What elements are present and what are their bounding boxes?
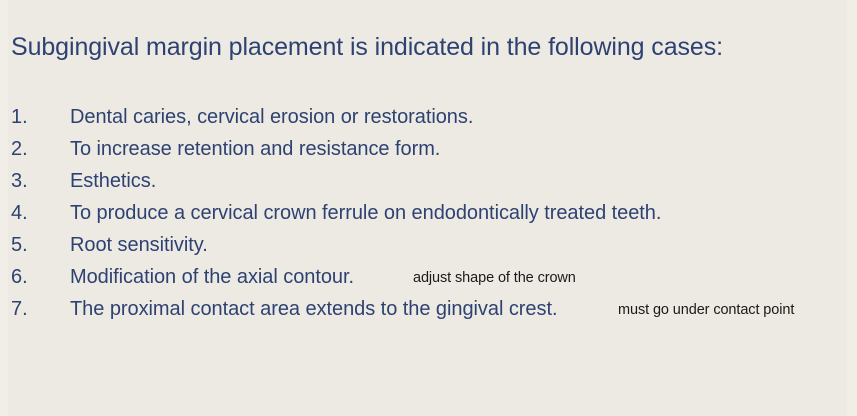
list-item-label: Esthetics. [70,165,156,197]
list-item-number: 1. [11,101,51,133]
list-item-number: 3. [11,165,51,197]
list-item: 7. The proximal contact area extends to … [0,293,857,325]
list-item-label: The proximal contact area extends to the… [70,293,557,325]
list-item: 3. Esthetics. [0,165,857,197]
list-item-number: 5. [11,229,51,261]
list-item-label: To increase retention and resistance for… [70,133,440,165]
list-item-number: 4. [11,197,51,229]
list-item: 1. Dental caries, cervical erosion or re… [0,101,857,133]
list-item: 4. To produce a cervical crown ferrule o… [0,197,857,229]
slide-canvas: Subgingival margin placement is indicate… [0,0,857,416]
list-item-number: 2. [11,133,51,165]
list-item-annotation: adjust shape of the crown [413,262,576,294]
page-title: Subgingival margin placement is indicate… [11,32,723,63]
list-item-number: 7. [11,293,51,325]
list-item: 6. Modification of the axial contour. ad… [0,261,857,293]
list-item-label: Root sensitivity. [70,229,208,261]
numbered-list: 1. Dental caries, cervical erosion or re… [0,101,857,325]
list-item-label: Modification of the axial contour. [70,261,354,293]
list-item: 5. Root sensitivity. [0,229,857,261]
list-item-label: To produce a cervical crown ferrule on e… [70,197,661,229]
list-item-label: Dental caries, cervical erosion or resto… [70,101,473,133]
list-item-number: 6. [11,261,51,293]
list-item-annotation: must go under contact point [618,294,794,326]
list-item: 2. To increase retention and resistance … [0,133,857,165]
